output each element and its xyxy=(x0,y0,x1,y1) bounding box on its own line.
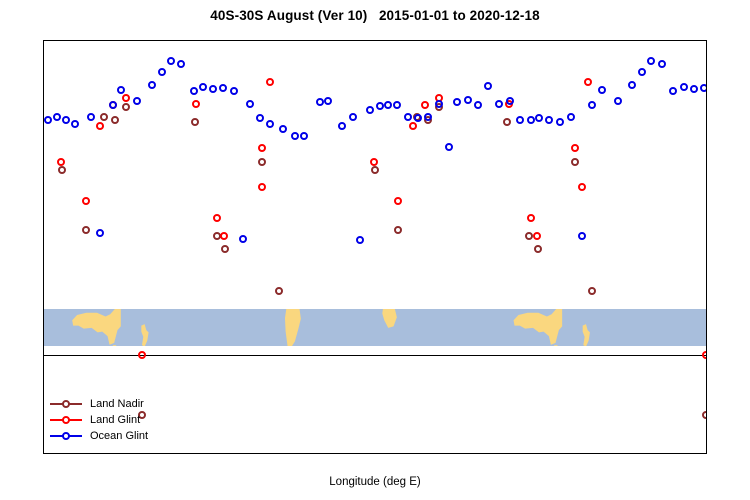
data-point-ocean-glint xyxy=(445,143,453,151)
data-point-land-glint xyxy=(421,101,429,109)
landmass-shape xyxy=(72,309,121,345)
data-point-land-glint xyxy=(266,78,274,86)
data-point-ocean-glint xyxy=(614,97,622,105)
data-point-ocean-glint xyxy=(647,57,655,65)
data-point-ocean-glint xyxy=(669,87,677,95)
data-point-ocean-glint xyxy=(53,113,61,121)
data-point-land-glint xyxy=(258,183,266,191)
data-point-ocean-glint xyxy=(414,114,422,122)
legend-item-land-glint: Land Glint xyxy=(50,412,148,428)
data-point-ocean-glint xyxy=(167,57,175,65)
data-point-ocean-glint xyxy=(598,86,606,94)
data-point-land-nadir xyxy=(82,226,90,234)
data-point-ocean-glint xyxy=(516,116,524,124)
data-point-ocean-glint xyxy=(535,114,543,122)
data-point-ocean-glint xyxy=(199,83,207,91)
data-point-ocean-glint xyxy=(506,97,514,105)
data-point-land-nadir xyxy=(100,113,108,121)
data-point-ocean-glint xyxy=(158,68,166,76)
data-point-land-glint xyxy=(122,94,130,102)
data-point-ocean-glint xyxy=(638,68,646,76)
data-point-ocean-glint xyxy=(366,106,374,114)
legend-marker-icon xyxy=(50,413,82,427)
data-point-ocean-glint xyxy=(117,86,125,94)
data-point-land-nadir xyxy=(275,287,283,295)
data-point-ocean-glint xyxy=(324,97,332,105)
data-point-ocean-glint xyxy=(424,113,432,121)
data-point-land-nadir xyxy=(571,158,579,166)
legend-label: Ocean Glint xyxy=(90,430,148,442)
data-point-ocean-glint xyxy=(384,101,392,109)
landmass-shape xyxy=(285,309,301,347)
landmass-shape xyxy=(583,324,590,347)
data-point-ocean-glint xyxy=(230,87,238,95)
data-point-land-glint xyxy=(584,78,592,86)
data-point-land-glint xyxy=(578,183,586,191)
data-point-land-nadir xyxy=(191,118,199,126)
latitude-map-band xyxy=(44,309,706,347)
data-point-ocean-glint xyxy=(133,97,141,105)
data-point-land-nadir xyxy=(258,158,266,166)
data-point-ocean-glint xyxy=(62,116,70,124)
data-point-land-nadir xyxy=(534,245,542,253)
data-point-ocean-glint xyxy=(376,102,384,110)
data-point-land-nadir xyxy=(503,118,511,126)
data-point-land-nadir xyxy=(221,245,229,253)
data-point-ocean-glint xyxy=(246,100,254,108)
data-point-land-nadir xyxy=(371,166,379,174)
data-point-ocean-glint xyxy=(219,84,227,92)
data-point-ocean-glint xyxy=(316,98,324,106)
data-point-ocean-glint xyxy=(338,122,346,130)
data-point-ocean-glint xyxy=(588,101,596,109)
data-point-ocean-glint xyxy=(545,116,553,124)
data-point-ocean-glint xyxy=(556,118,564,126)
data-point-ocean-glint xyxy=(658,60,666,68)
data-point-land-glint xyxy=(82,197,90,205)
data-point-ocean-glint xyxy=(109,101,117,109)
legend-label: Land Nadir xyxy=(90,398,144,410)
data-point-ocean-glint xyxy=(700,84,707,92)
data-point-ocean-glint xyxy=(71,120,79,128)
data-point-ocean-glint xyxy=(474,101,482,109)
data-point-land-nadir xyxy=(588,287,596,295)
data-point-ocean-glint xyxy=(300,132,308,140)
data-point-ocean-glint xyxy=(349,113,357,121)
data-point-ocean-glint xyxy=(435,100,443,108)
landmass-shape xyxy=(554,345,557,347)
data-point-ocean-glint xyxy=(87,113,95,121)
data-point-land-nadir xyxy=(122,103,130,111)
data-point-land-glint xyxy=(213,214,221,222)
data-point-ocean-glint xyxy=(148,81,156,89)
data-point-ocean-glint xyxy=(291,132,299,140)
data-point-ocean-glint xyxy=(209,85,217,93)
data-point-ocean-glint xyxy=(279,125,287,133)
data-point-ocean-glint xyxy=(453,98,461,106)
data-point-ocean-glint xyxy=(96,229,104,237)
data-point-ocean-glint xyxy=(484,82,492,90)
data-point-ocean-glint xyxy=(680,83,688,91)
data-point-ocean-glint xyxy=(239,235,247,243)
legend-marker-icon xyxy=(50,429,82,443)
plot-area: 5010020050010002000500010000200005000090… xyxy=(43,40,707,454)
data-point-land-nadir xyxy=(111,116,119,124)
data-point-land-glint xyxy=(138,351,146,359)
landmass-shape xyxy=(382,309,397,328)
data-point-land-glint xyxy=(409,122,417,130)
data-point-ocean-glint xyxy=(495,100,503,108)
plot-inner xyxy=(44,41,706,453)
data-point-land-nadir xyxy=(394,226,402,234)
data-point-ocean-glint xyxy=(44,116,52,124)
data-point-land-glint xyxy=(702,351,707,359)
data-point-ocean-glint xyxy=(393,101,401,109)
chart-canvas: 40S-30S August (Ver 10) 2015-01-01 to 20… xyxy=(0,0,750,500)
data-point-land-nadir xyxy=(702,411,707,419)
data-point-ocean-glint xyxy=(464,96,472,104)
chart-title: 40S-30S August (Ver 10) 2015-01-01 to 20… xyxy=(0,8,750,23)
chart-legend: Land Nadir Land Glint Ocean Glint xyxy=(50,396,148,444)
data-point-ocean-glint xyxy=(177,60,185,68)
data-point-land-glint xyxy=(571,144,579,152)
data-point-ocean-glint xyxy=(404,113,412,121)
data-point-land-glint xyxy=(527,214,535,222)
data-point-land-glint xyxy=(394,197,402,205)
landmass-shape xyxy=(113,345,116,347)
data-point-ocean-glint xyxy=(578,232,586,240)
legend-item-land-nadir: Land Nadir xyxy=(50,396,148,412)
data-point-ocean-glint xyxy=(256,114,264,122)
x-axis-label: Longitude (deg E) xyxy=(43,476,707,488)
data-point-land-glint xyxy=(370,158,378,166)
data-point-ocean-glint xyxy=(628,81,636,89)
data-point-land-glint xyxy=(96,122,104,130)
legend-marker-icon xyxy=(50,397,82,411)
data-point-land-glint xyxy=(533,232,541,240)
data-point-land-glint xyxy=(220,232,228,240)
data-point-ocean-glint xyxy=(690,85,698,93)
data-point-land-glint xyxy=(57,158,65,166)
data-point-land-glint xyxy=(192,100,200,108)
legend-label: Land Glint xyxy=(90,414,140,426)
data-point-ocean-glint xyxy=(356,236,364,244)
landmass-shape xyxy=(514,309,563,345)
data-point-land-glint xyxy=(258,144,266,152)
data-point-ocean-glint xyxy=(266,120,274,128)
legend-item-ocean-glint: Ocean Glint xyxy=(50,428,148,444)
landmass-shape xyxy=(141,324,148,347)
data-point-ocean-glint xyxy=(190,87,198,95)
data-point-ocean-glint xyxy=(567,113,575,121)
data-point-ocean-glint xyxy=(527,116,535,124)
data-point-land-nadir xyxy=(58,166,66,174)
